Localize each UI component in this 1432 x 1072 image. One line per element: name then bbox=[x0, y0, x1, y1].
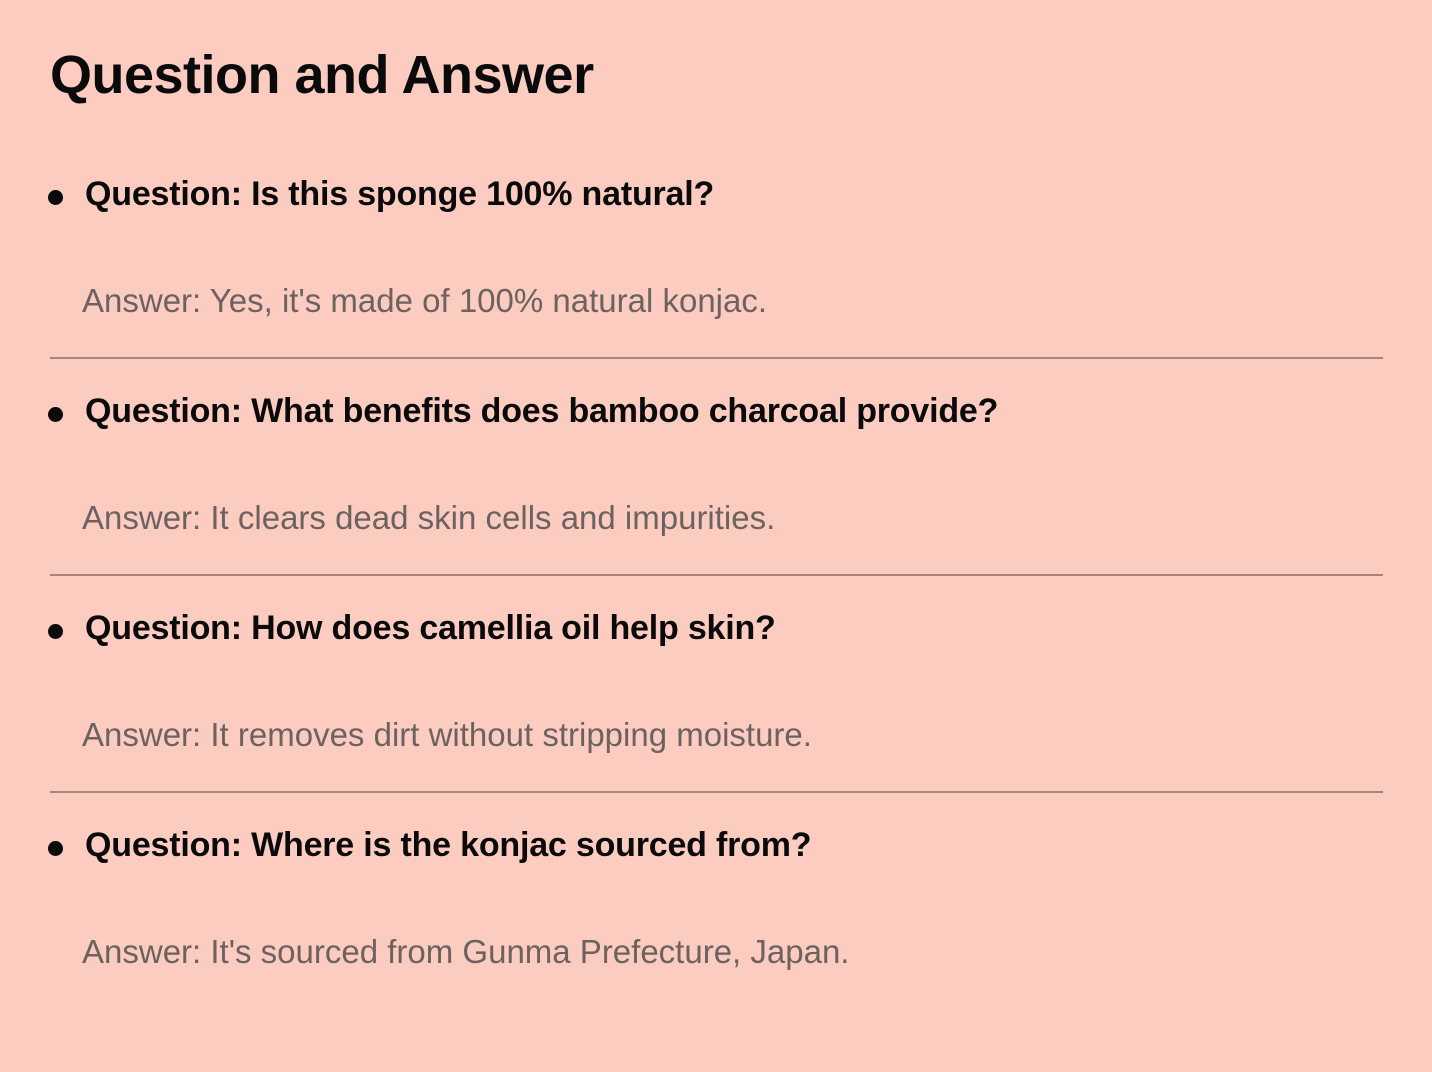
qa-question-row: Question: What benefits does bamboo char… bbox=[0, 389, 1432, 441]
qa-divider bbox=[50, 357, 1383, 359]
qa-answer-text: Answer: Yes, it's made of 100% natural k… bbox=[82, 280, 767, 322]
page-title: Question and Answer bbox=[50, 44, 594, 106]
qa-answer-text: Answer: It's sourced from Gunma Prefectu… bbox=[82, 931, 849, 973]
qa-item: Question: Where is the konjac sourced fr… bbox=[0, 823, 1432, 1040]
bullet-icon bbox=[48, 624, 63, 639]
qa-list: Question: Is this sponge 100% natural? A… bbox=[0, 172, 1432, 1040]
qa-item: Question: Is this sponge 100% natural? A… bbox=[0, 172, 1432, 389]
bullet-icon bbox=[48, 190, 63, 205]
qa-page: Question and Answer Question: Is this sp… bbox=[0, 0, 1432, 1072]
qa-question-text: Question: Where is the konjac sourced fr… bbox=[85, 823, 1432, 867]
qa-question-row: Question: Is this sponge 100% natural? bbox=[0, 172, 1432, 224]
qa-question-text: Question: What benefits does bamboo char… bbox=[85, 389, 1432, 433]
qa-question-row: Question: Where is the konjac sourced fr… bbox=[0, 823, 1432, 875]
bullet-icon bbox=[48, 407, 63, 422]
qa-question-text: Question: How does camellia oil help ski… bbox=[85, 606, 1432, 650]
qa-answer-text: Answer: It clears dead skin cells and im… bbox=[82, 497, 775, 539]
qa-answer-text: Answer: It removes dirt without strippin… bbox=[82, 714, 812, 756]
qa-item: Question: What benefits does bamboo char… bbox=[0, 389, 1432, 606]
qa-question-row: Question: How does camellia oil help ski… bbox=[0, 606, 1432, 658]
bullet-icon bbox=[48, 841, 63, 856]
qa-item: Question: How does camellia oil help ski… bbox=[0, 606, 1432, 823]
qa-question-text: Question: Is this sponge 100% natural? bbox=[85, 172, 1432, 216]
qa-divider bbox=[50, 574, 1383, 576]
qa-divider bbox=[50, 791, 1383, 793]
